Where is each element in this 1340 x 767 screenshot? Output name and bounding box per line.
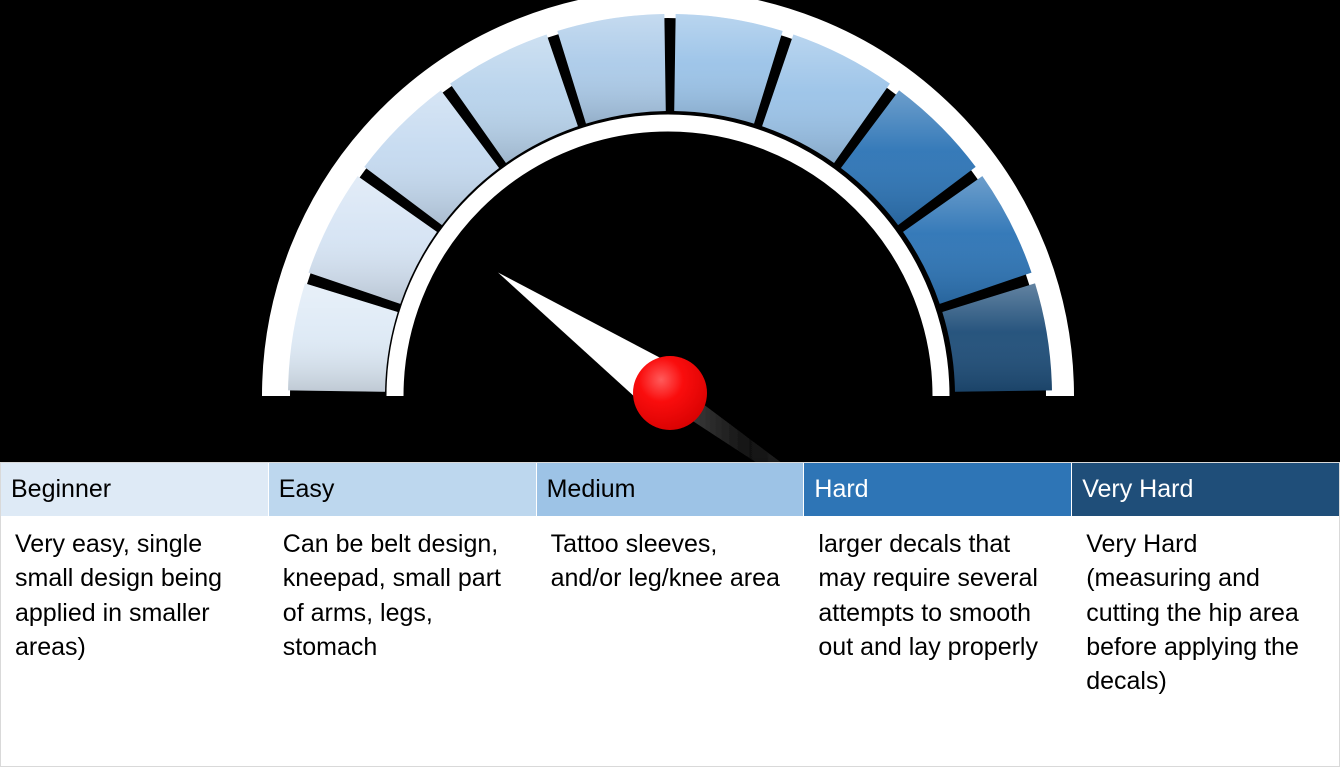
gauge-segment-shade-6 [674,14,782,124]
gauge-needle [498,273,953,463]
table-header-row: Beginner Easy Medium Hard Very Hard [1,463,1340,517]
column-header-medium: Medium [536,463,804,517]
column-header-hard: Hard [804,463,1072,517]
column-header-easy: Easy [268,463,536,517]
gauge-graphic [0,0,1340,462]
column-header-very-hard: Very Hard [1072,463,1340,517]
cell-hard-description: larger decals that may require several a… [804,517,1072,767]
gauge-segment-shade-1 [288,283,398,391]
table-row: Very easy, single small design being app… [1,517,1340,767]
slide-canvas: Beginner Easy Medium Hard Very Hard Very… [0,0,1340,767]
cell-very-hard-description: Very Hard (measuring and cutting the hip… [1072,517,1340,767]
difficulty-table: Beginner Easy Medium Hard Very Hard Very… [0,462,1340,767]
cell-beginner-description: Very easy, single small design being app… [1,517,269,767]
needle-pointer [664,384,953,462]
table-body: Very easy, single small design being app… [1,517,1340,767]
gauge-segment-shade-10 [942,283,1052,391]
difficulty-gauge [0,0,1340,462]
gauge-segment-shade-5 [557,14,665,124]
needle-hub [633,356,707,430]
cell-medium-description: Tattoo sleeves, and/or leg/knee area [536,517,804,767]
column-header-beginner: Beginner [1,463,269,517]
cell-easy-description: Can be belt design, kneepad, small part … [268,517,536,767]
